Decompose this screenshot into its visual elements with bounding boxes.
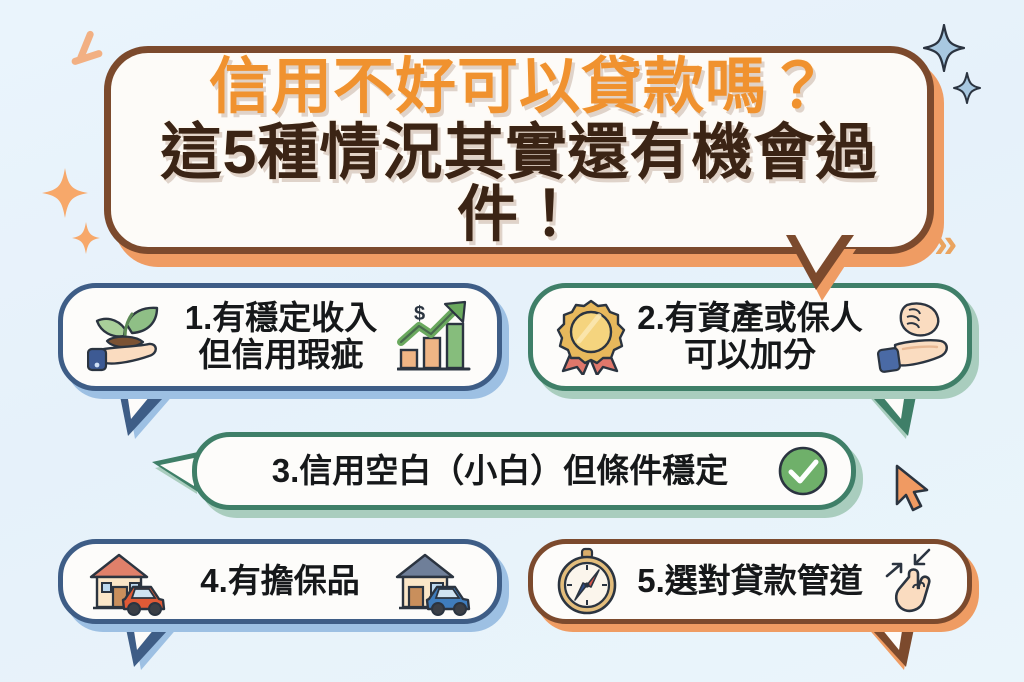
house-with-red-car-icon bbox=[85, 547, 171, 617]
sparkle-orange-small-icon bbox=[72, 222, 100, 254]
growth-bar-chart-icon: $ bbox=[397, 300, 473, 374]
svg-text:$: $ bbox=[414, 303, 425, 325]
hero-title-line1: 信用不好可以貸款嗎？ bbox=[111, 55, 927, 117]
hero-title-line2: 這5種情況其實還有機會過件！ bbox=[111, 121, 927, 245]
card-3-text: 3.信用空白（小白）但條件穩定 bbox=[197, 453, 777, 490]
dash-mark-2 bbox=[71, 49, 104, 66]
chevron-right-decor: » bbox=[934, 222, 951, 264]
card-3[interactable]: 3.信用空白（小白）但條件穩定 bbox=[192, 432, 856, 510]
sparkle-blue-large-icon bbox=[923, 24, 965, 72]
sparkle-blue-small-icon bbox=[953, 72, 981, 104]
card-1-text: 1.有穩定收入 但信用瑕疵 bbox=[165, 300, 397, 374]
sparkle-orange-large-icon bbox=[42, 168, 88, 218]
card-2[interactable]: 2.有資產或保人 可以加分 bbox=[528, 283, 972, 391]
green-check-circle-icon bbox=[777, 445, 829, 497]
pointing-hand-cursor-icon bbox=[879, 546, 951, 618]
card-1[interactable]: 1.有穩定收入 但信用瑕疵 $ bbox=[58, 283, 502, 391]
compass-icon bbox=[553, 547, 621, 617]
mouse-cursor-icon bbox=[893, 464, 935, 514]
dash-mark-1 bbox=[76, 30, 94, 62]
infographic-canvas: » 信用不好可以貸款嗎？ 這5種情況其實還有機會過件！ bbox=[0, 0, 1024, 682]
hero-bubble: 信用不好可以貸款嗎？ 這5種情況其實還有機會過件！ bbox=[104, 46, 934, 254]
fist-on-open-palm-icon bbox=[873, 297, 953, 377]
card-4[interactable]: 4.有擔保品 bbox=[58, 539, 502, 624]
hand-with-sprout-icon bbox=[87, 299, 165, 375]
card-2-text: 2.有資產或保人 可以加分 bbox=[627, 300, 873, 374]
house-with-blue-car-icon bbox=[389, 547, 475, 617]
card-5[interactable]: 5.選對貸款管道 bbox=[528, 539, 972, 624]
gold-medal-ribbon-icon bbox=[555, 299, 627, 375]
card-5-text: 5.選對貸款管道 bbox=[621, 563, 879, 600]
card-4-text: 4.有擔保品 bbox=[171, 563, 389, 600]
